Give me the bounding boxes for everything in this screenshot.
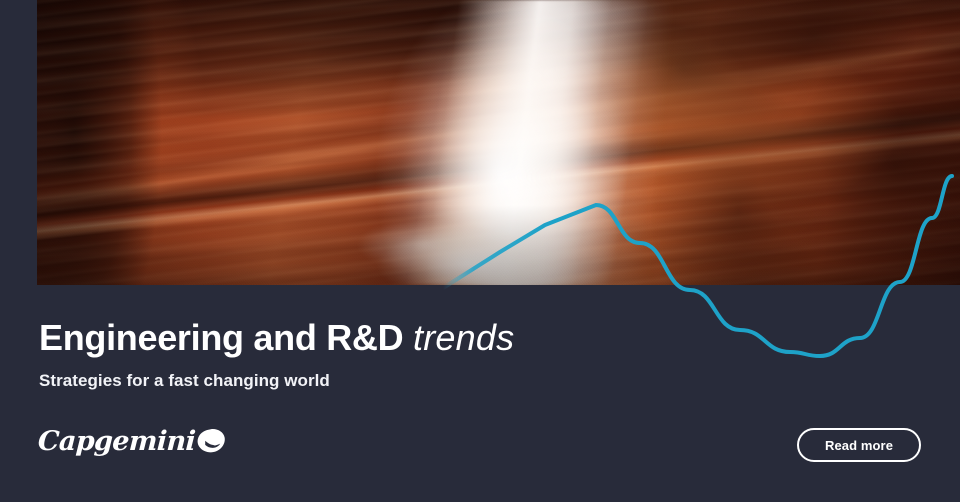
hero-grain xyxy=(37,0,960,285)
read-more-button[interactable]: Read more xyxy=(797,428,921,462)
capgemini-logo[interactable]: Capgemini xyxy=(38,424,226,458)
headline-emphasis: trends xyxy=(413,317,514,358)
page-subtitle: Strategies for a fast changing world xyxy=(39,371,330,391)
promo-banner: Engineering and R&D trends Strategies fo… xyxy=(0,0,960,502)
capgemini-swirl-icon xyxy=(196,428,226,454)
page-title: Engineering and R&D trends xyxy=(39,320,514,356)
hero-image xyxy=(37,0,960,285)
headline-primary: Engineering and R&D xyxy=(39,317,403,358)
logo-wordmark: Capgemini xyxy=(37,428,196,455)
